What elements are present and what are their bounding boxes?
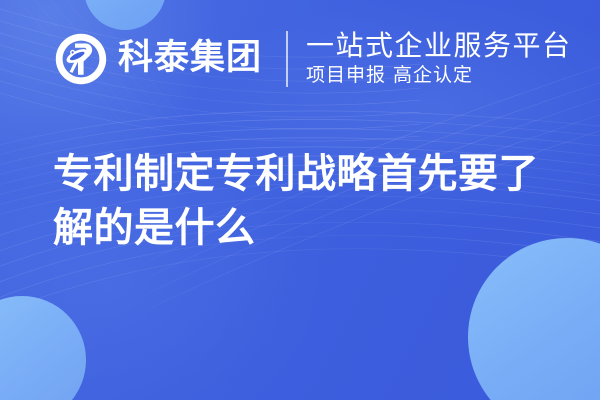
page-title: 专利制定专利战略首先要了解的是什么 <box>53 148 553 255</box>
ketai-satellite-logo-icon <box>55 33 107 85</box>
title-block: 专利制定专利战略首先要了解的是什么 <box>53 148 553 255</box>
banner-header: 科泰集团 一站式企业服务平台 项目申报 高企认定 <box>0 0 600 118</box>
slogan-block: 一站式企业服务平台 项目申报 高企认定 <box>306 30 572 88</box>
slogan-secondary: 项目申报 高企认定 <box>306 64 572 88</box>
brand-lockup: 科泰集团 一站式企业服务平台 项目申报 高企认定 <box>55 30 572 88</box>
header-divider <box>286 31 288 87</box>
slogan-primary: 一站式企业服务平台 <box>306 30 572 61</box>
brand-name: 科泰集团 <box>118 41 262 76</box>
promo-banner: 科泰集团 一站式企业服务平台 项目申报 高企认定 专利制定专利战略首先要了解的是… <box>0 0 600 400</box>
